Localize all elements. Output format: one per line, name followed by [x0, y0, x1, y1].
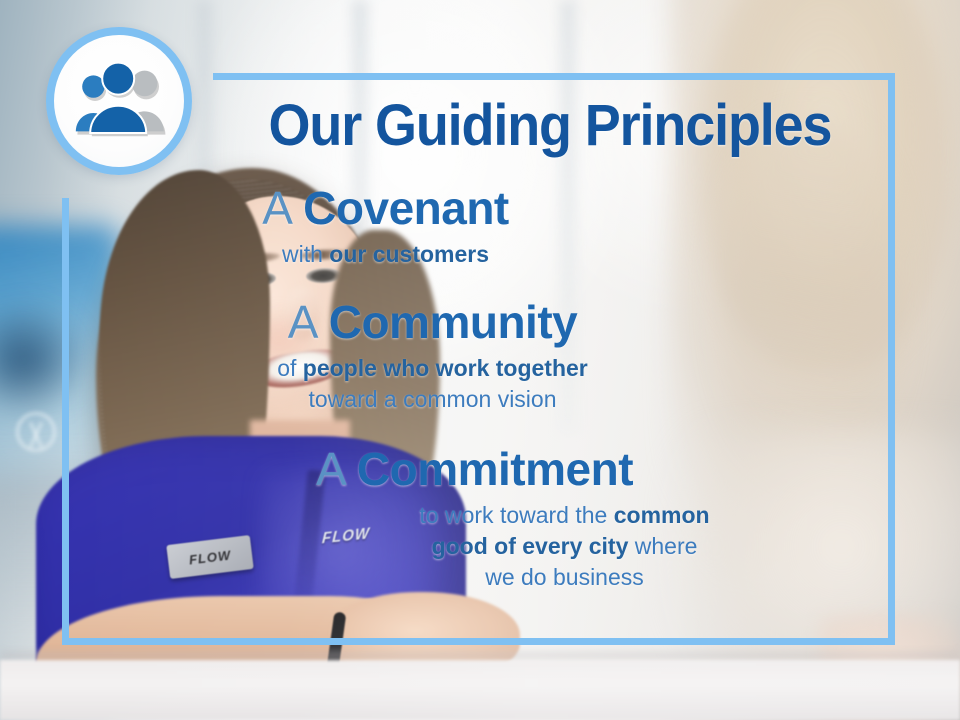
desk-surface [0, 660, 960, 720]
principle-subtext: to work toward the common good of every … [62, 500, 887, 592]
principle-covenant: A Covenant with our customers [62, 183, 895, 269]
principle-heading: A Covenant [62, 183, 709, 235]
principle-keyword: Commitment [357, 443, 633, 495]
principle-keyword: Covenant [303, 182, 509, 234]
principle-community: A Community of people who work together … [62, 297, 895, 414]
principle-subtext: with our customers [62, 239, 709, 270]
subtext-lead: to work toward the [419, 502, 613, 528]
principle-article: A [262, 182, 290, 234]
subtext-line-2: good of every city where [242, 531, 887, 562]
principle-article: A [316, 443, 344, 495]
principle-article: A [288, 296, 316, 348]
subtext-emphasis: good of every city [432, 533, 629, 559]
subtext-tail: where [628, 533, 697, 559]
subtext-lead: with [282, 241, 329, 267]
subtext-emphasis: people who work together [303, 355, 588, 381]
subtext-emphasis: our customers [329, 241, 489, 267]
subtext-lead: of [277, 355, 303, 381]
subtext-line-1: to work toward the common [242, 500, 887, 531]
principle-heading: A Community [62, 297, 803, 349]
subtext-line-2: toward a common vision [62, 384, 803, 415]
guiding-principles-banner: FLOW FLOW [0, 0, 960, 720]
principle-subtext: of people who work together toward a com… [62, 353, 803, 415]
principle-heading: A Commitment [62, 444, 887, 496]
vehicle-brand-logo [16, 412, 56, 452]
subtext-line-3: we do business [242, 562, 887, 593]
page-title: Our Guiding Principles [243, 97, 857, 155]
principles-list: A Covenant with our customers A Communit… [62, 183, 895, 598]
text-content: Our Guiding Principles A Covenant with o… [62, 73, 895, 645]
subtext-emphasis: common [614, 502, 710, 528]
principle-keyword: Community [329, 296, 578, 348]
principle-commitment: A Commitment to work toward the common g… [62, 444, 895, 592]
subtext-line-1: of people who work together [62, 353, 803, 384]
